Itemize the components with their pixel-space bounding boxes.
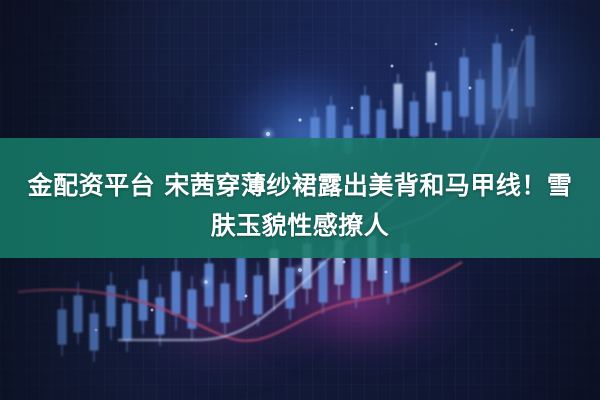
promo-banner-image: 金配资平台 宋茜穿薄纱裙露出美背和马甲线！雪 肤玉貌性感撩人 [0, 0, 600, 400]
headline-text: 金配资平台 宋茜穿薄纱裙露出美背和马甲线！雪 肤玉貌性感撩人 [0, 166, 600, 246]
